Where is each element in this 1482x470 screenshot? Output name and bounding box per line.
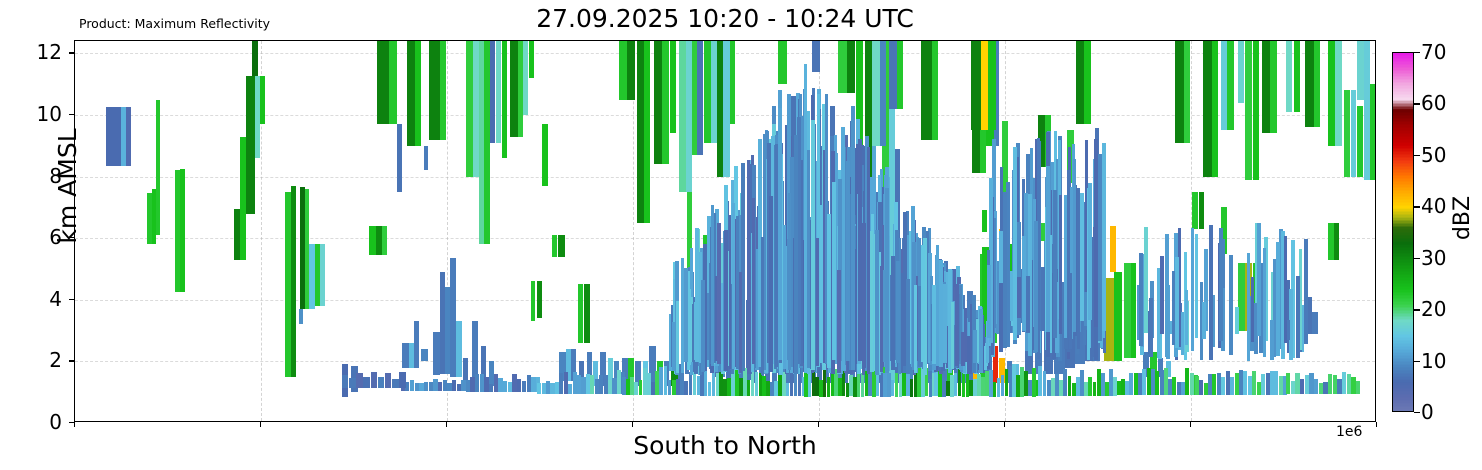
colorbar-tick-label: 20	[1421, 299, 1446, 319]
x-tick-mark	[260, 422, 261, 427]
y-axis-label: km AMSL	[55, 96, 81, 276]
colorbar-tick-mark	[1414, 258, 1420, 259]
colorbar-label: dBZ	[1451, 183, 1475, 253]
colorbar	[1392, 52, 1414, 412]
colorbar-tick-label: 50	[1421, 145, 1446, 165]
x-axis-tick-marks	[0, 0, 1482, 470]
colorbar-tick-mark	[1414, 155, 1420, 156]
colorbar-tick-mark	[1414, 361, 1420, 362]
colorbar-tick-label: 70	[1421, 42, 1446, 62]
colorbar-tick-mark	[1414, 52, 1420, 53]
colorbar-tick-mark	[1414, 103, 1420, 104]
colorbar-tick-mark	[1414, 309, 1420, 310]
colorbar-tick-mark	[1414, 206, 1420, 207]
colorbar-band	[1393, 412, 1413, 413]
colorbar-tick-label: 10	[1421, 351, 1446, 371]
colorbar-tick-label: 60	[1421, 93, 1446, 113]
colorbar-tick-mark	[1414, 412, 1420, 413]
x-axis-offset-text: 1e6	[1336, 424, 1362, 440]
x-tick-mark	[446, 422, 447, 427]
x-tick-mark	[818, 422, 819, 427]
colorbar-band	[1393, 410, 1413, 412]
x-tick-mark	[74, 422, 75, 427]
x-tick-mark	[1190, 422, 1191, 427]
x-tick-mark	[1004, 422, 1005, 427]
colorbar-tick-label: 30	[1421, 248, 1446, 268]
x-axis-label: South to North	[74, 432, 1376, 460]
x-tick-mark	[632, 422, 633, 427]
colorbar-tick-label: 40	[1421, 196, 1446, 216]
x-tick-mark	[1376, 422, 1377, 427]
colorbar-tick-label: 0	[1421, 402, 1434, 422]
